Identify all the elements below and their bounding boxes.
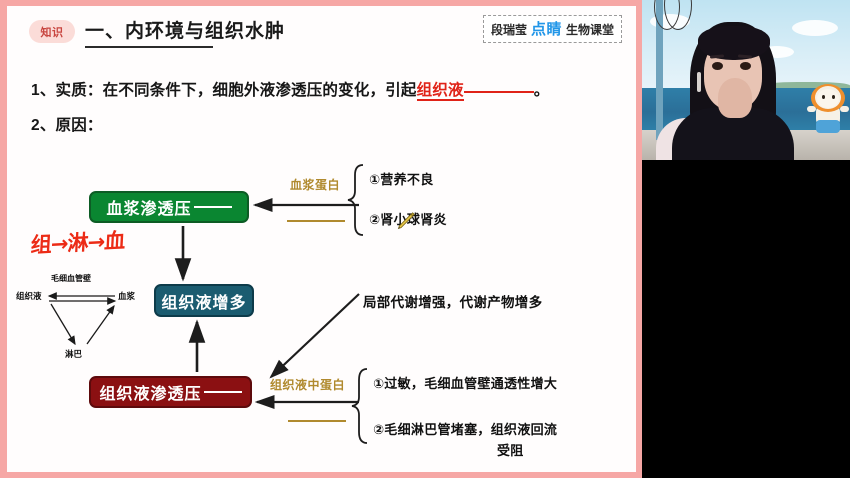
teacher-earring bbox=[697, 72, 701, 92]
label-plasma-protein: 血浆蛋白 bbox=[290, 176, 340, 193]
mini-label-tissue-fluid: 组织液 bbox=[16, 290, 42, 302]
page-title: 一、内环境与组织水肿 bbox=[85, 16, 285, 43]
video-letterbox-area bbox=[642, 160, 850, 478]
node-tissue-osmotic-blank bbox=[204, 391, 242, 393]
mascot-eye bbox=[832, 95, 835, 99]
pencil-cursor-icon[interactable] bbox=[396, 211, 416, 231]
mini-label-plasma: 血浆 bbox=[118, 290, 135, 302]
mascot-eye bbox=[822, 95, 825, 99]
node-tissue-increase-label: 组织液增多 bbox=[161, 289, 246, 313]
logo-course-name: 生物课堂 bbox=[566, 21, 614, 38]
teacher-eye bbox=[712, 62, 723, 70]
statement-suffix: 。 bbox=[534, 82, 550, 99]
cause-bottom-2-text: ②毛细淋巴管堵塞， bbox=[373, 422, 491, 437]
node-tissue-osmotic-pressure: 组织液渗透压 bbox=[89, 376, 252, 408]
statement-prefix: 1、实质：在不同条件下，细胞外液渗透压的变化，引起 bbox=[31, 82, 417, 99]
screen-root: 知识 一、内环境与组织水肿 段瑞莹 点睛 生物课堂 1、实质：在不同条件下，细胞… bbox=[0, 0, 850, 478]
cause-bottom-2-emphasis: 组织液回流 bbox=[491, 422, 558, 437]
statement-line-2: 2、原因： bbox=[31, 113, 103, 135]
teacher-hand bbox=[718, 78, 752, 118]
mascot-character bbox=[810, 84, 846, 136]
node-plasma-osmotic-pressure: 血浆渗透压 bbox=[89, 191, 249, 223]
slide-canvas: 知识 一、内环境与组织水肿 段瑞莹 点睛 生物课堂 1、实质：在不同条件下，细胞… bbox=[7, 6, 636, 472]
mini-label-lymph: 淋巴 bbox=[65, 348, 82, 360]
title-underline bbox=[85, 46, 213, 48]
node-plasma-label: 血浆渗透压 bbox=[106, 195, 191, 219]
label-tissue-protein: 组织液中蛋白 bbox=[270, 376, 345, 393]
logo-brand-accent: 点睛 bbox=[531, 18, 562, 39]
statement-blank bbox=[464, 91, 534, 93]
mascot-face bbox=[817, 89, 839, 108]
lesson-slide: 知识 一、内环境与组织水肿 段瑞莹 点睛 生物课堂 1、实质：在不同条件下，细胞… bbox=[0, 0, 642, 478]
knowledge-badge: 知识 bbox=[29, 20, 75, 43]
cause-bottom-1: ①过敏，毛细血管壁通透性增大 bbox=[373, 373, 557, 392]
node-tissue-osmotic-label: 组织液渗透压 bbox=[99, 380, 201, 404]
mini-label-capillary-wall: 毛细血管壁 bbox=[51, 273, 91, 284]
teacher-eye bbox=[740, 62, 751, 70]
node-plasma-blank bbox=[194, 206, 232, 208]
statement-line-1: 1、实质：在不同条件下，细胞外液渗透压的变化，引起组织液。 bbox=[31, 78, 549, 100]
cause-bottom-2-emphasis2: 受阻 bbox=[497, 440, 524, 459]
webcam-panel[interactable] bbox=[642, 0, 850, 478]
handwritten-annotation: 组→淋→血 bbox=[30, 225, 125, 260]
cloud-shape bbox=[792, 20, 838, 36]
logo-teacher-name: 段瑞莹 bbox=[491, 21, 527, 38]
cause-top-1: ①营养不良 bbox=[369, 169, 434, 188]
blank-tissue-protein bbox=[288, 420, 346, 422]
mascot-arm bbox=[840, 106, 849, 112]
teacher-video-feed[interactable] bbox=[642, 0, 850, 160]
mascot-pants bbox=[816, 120, 840, 133]
node-tissue-fluid-increase: 组织液增多 bbox=[154, 284, 254, 317]
mini-circulation-diagram: 毛细血管壁 组织液 血浆 淋巴 bbox=[15, 268, 147, 363]
channel-logo: 段瑞莹 点睛 生物课堂 bbox=[483, 15, 622, 43]
cause-bottom-2: ②毛细淋巴管堵塞，组织液回流 bbox=[373, 419, 557, 438]
metabolism-note: 局部代谢增强，代谢产物增多 bbox=[363, 291, 542, 311]
blank-plasma-protein bbox=[287, 220, 345, 222]
statement-highlight: 组织液 bbox=[417, 82, 464, 101]
teacher-bangs bbox=[698, 26, 770, 60]
